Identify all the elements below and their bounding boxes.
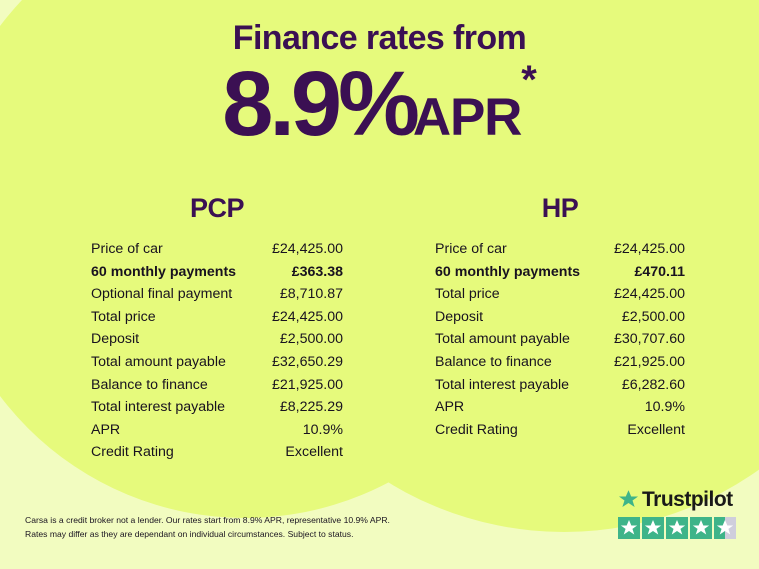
poster-canvas: Finance rates from 8.9%APR* PCP Price of… xyxy=(0,0,759,569)
row-label: Balance to finance xyxy=(91,377,208,393)
row-label: Price of car xyxy=(435,241,507,257)
row-label: 60 monthly payments xyxy=(435,264,580,280)
star-icon xyxy=(692,519,710,537)
table-row: 60 monthly payments £363.38 xyxy=(91,264,343,287)
table-row: Total interest payable £8,225.29 xyxy=(91,399,343,422)
row-value: £6,282.60 xyxy=(622,377,685,393)
finance-table-pcp: Price of car £24,425.00 60 monthly payme… xyxy=(91,241,343,467)
column-title-hp: HP xyxy=(435,195,685,222)
row-label: Credit Rating xyxy=(435,422,518,438)
row-value: 10.9% xyxy=(303,422,343,438)
finance-column-pcp: PCP Price of car £24,425.00 60 monthly p… xyxy=(91,195,343,467)
row-label: Deposit xyxy=(435,309,483,325)
rating-star-tile xyxy=(642,517,664,539)
row-label: Optional final payment xyxy=(91,286,232,302)
table-row: Credit Rating Excellent xyxy=(435,422,685,445)
disclaimer-line-1: Carsa is a credit broker not a lender. O… xyxy=(25,514,445,528)
row-label: APR xyxy=(435,399,464,415)
row-value: Excellent xyxy=(285,444,343,460)
table-row: Credit Rating Excellent xyxy=(91,444,343,467)
disclaimer-line-2: Rates may differ as they are dependant o… xyxy=(25,528,445,542)
row-label: Balance to finance xyxy=(435,354,552,370)
row-value: £24,425.00 xyxy=(272,241,343,257)
row-label: Total price xyxy=(91,309,156,325)
legal-disclaimer: Carsa is a credit broker not a lender. O… xyxy=(25,514,445,542)
page-title: Finance rates from xyxy=(0,21,759,55)
row-label: Total price xyxy=(435,286,500,302)
trustpilot-star-rating xyxy=(618,517,743,539)
hero-apr-label: APR xyxy=(413,88,521,147)
table-row: Price of car £24,425.00 xyxy=(91,241,343,264)
row-value: £21,925.00 xyxy=(614,354,685,370)
row-value: £24,425.00 xyxy=(272,309,343,325)
row-value: £32,650.29 xyxy=(272,354,343,370)
table-row: Total interest payable £6,282.60 xyxy=(435,377,685,400)
rating-star-tile xyxy=(618,517,640,539)
table-row: Total price £24,425.00 xyxy=(91,309,343,332)
rating-star-tile xyxy=(666,517,688,539)
row-label: Total interest payable xyxy=(91,399,225,415)
row-value: £8,225.29 xyxy=(280,399,343,415)
table-row: APR 10.9% xyxy=(91,422,343,445)
row-label: APR xyxy=(91,422,120,438)
row-value: £2,500.00 xyxy=(280,331,343,347)
table-row: Optional final payment £8,710.87 xyxy=(91,286,343,309)
table-row: Deposit £2,500.00 xyxy=(91,331,343,354)
star-icon xyxy=(668,519,686,537)
row-value: £470.11 xyxy=(634,264,685,280)
row-value: £30,707.60 xyxy=(614,331,685,347)
hero-rate-value: 8.9% xyxy=(222,53,416,155)
table-row: Total amount payable £30,707.60 xyxy=(435,331,685,354)
row-label: Total amount payable xyxy=(91,354,226,370)
row-value: £21,925.00 xyxy=(272,377,343,393)
table-row: Price of car £24,425.00 xyxy=(435,241,685,264)
star-icon xyxy=(618,489,639,510)
row-value: £24,425.00 xyxy=(614,286,685,302)
trustpilot-badge[interactable]: Trustpilot xyxy=(618,487,743,539)
table-row: APR 10.9% xyxy=(435,399,685,422)
row-label: Credit Rating xyxy=(91,444,174,460)
trustpilot-name: Trustpilot xyxy=(642,489,733,510)
rating-star-tile-half xyxy=(714,517,736,539)
row-value: £24,425.00 xyxy=(614,241,685,257)
star-icon xyxy=(620,519,638,537)
row-value: £8,710.87 xyxy=(280,286,343,302)
finance-table-hp: Price of car £24,425.00 60 monthly payme… xyxy=(435,241,685,444)
rating-star-tile xyxy=(690,517,712,539)
column-title-pcp: PCP xyxy=(91,195,343,222)
trustpilot-wordmark: Trustpilot xyxy=(618,487,743,512)
hero-rate-block: 8.9%APR* xyxy=(0,58,759,150)
row-label: Total amount payable xyxy=(435,331,570,347)
hero-asterisk: * xyxy=(521,58,537,102)
row-label: 60 monthly payments xyxy=(91,264,236,280)
table-row: 60 monthly payments £470.11 xyxy=(435,264,685,287)
star-icon xyxy=(644,519,662,537)
table-row: Balance to finance £21,925.00 xyxy=(91,377,343,400)
row-label: Total interest payable xyxy=(435,377,569,393)
table-row: Balance to finance £21,925.00 xyxy=(435,354,685,377)
row-label: Price of car xyxy=(91,241,163,257)
table-row: Total price £24,425.00 xyxy=(435,286,685,309)
table-row: Total amount payable £32,650.29 xyxy=(91,354,343,377)
finance-column-hp: HP Price of car £24,425.00 60 monthly pa… xyxy=(435,195,685,444)
row-value: 10.9% xyxy=(645,399,685,415)
row-value: £363.38 xyxy=(292,264,343,280)
table-row: Deposit £2,500.00 xyxy=(435,309,685,332)
star-icon xyxy=(716,519,734,537)
row-value: Excellent xyxy=(627,422,685,438)
row-value: £2,500.00 xyxy=(622,309,685,325)
row-label: Deposit xyxy=(91,331,139,347)
